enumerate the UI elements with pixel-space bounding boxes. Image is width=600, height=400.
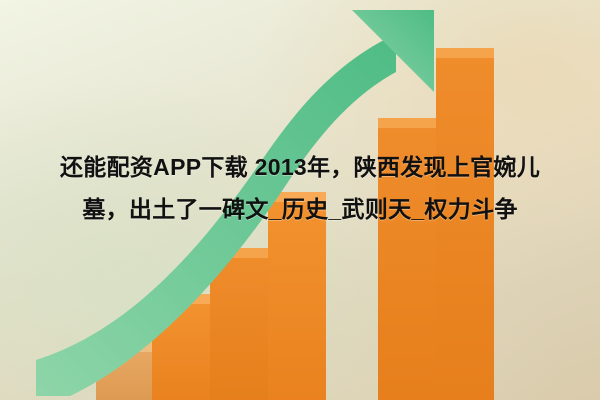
caption-overlay: 还能配资APP下载 2013年，陕西发现上官婉儿 墓，出土了一碑文_历史_武则天… bbox=[0, 146, 600, 230]
caption-line-1: 还能配资APP下载 2013年，陕西发现上官婉儿 bbox=[0, 146, 600, 188]
caption-line-2: 墓，出土了一碑文_历史_武则天_权力斗争 bbox=[0, 188, 600, 230]
image-canvas: 还能配资APP下载 2013年，陕西发现上官婉儿 墓，出土了一碑文_历史_武则天… bbox=[0, 0, 600, 400]
